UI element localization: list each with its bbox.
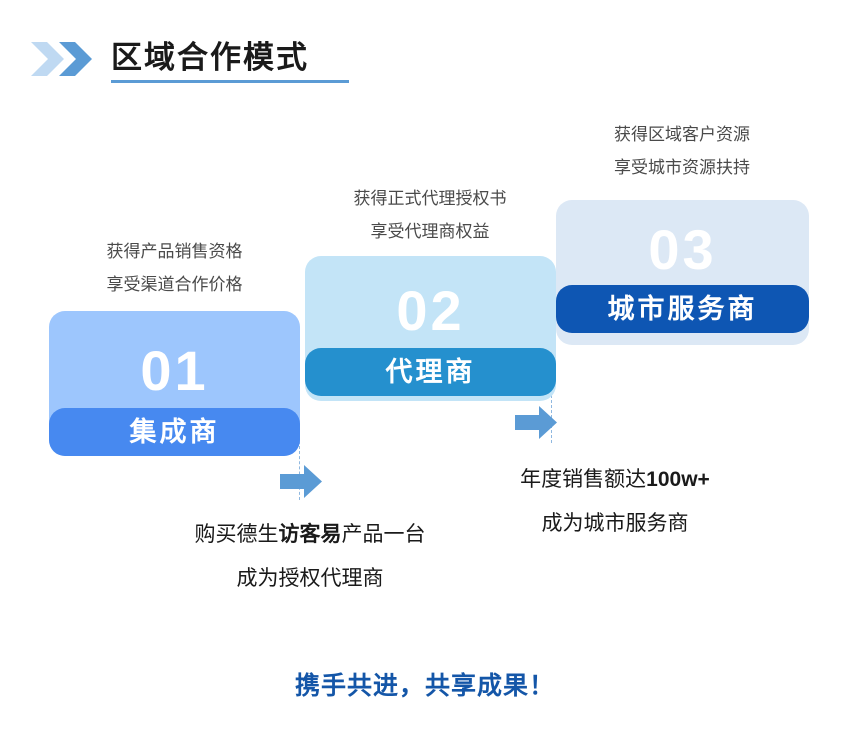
tier-number-03: 03 xyxy=(556,220,809,280)
step-description-01: 购买德生访客易产品一台 成为授权代理商 xyxy=(120,513,500,601)
right-arrow-icon-01 xyxy=(280,465,322,498)
step-02-highlight: 100w+ xyxy=(646,468,710,491)
tier-card-integrator[interactable]: 01 集成商 xyxy=(49,311,300,456)
tier-caption-02: 获得正式代理授权书 享受代理商权益 xyxy=(300,182,560,248)
step-description-02: 年度销售额达100w+ 成为城市服务商 xyxy=(455,458,775,546)
tier-name-02: 代理商 xyxy=(305,348,556,396)
tier-name-03: 城市服务商 xyxy=(556,285,809,333)
tier-name-01: 集成商 xyxy=(49,408,300,456)
tier-caption-02-line2: 享受代理商权益 xyxy=(300,215,560,248)
step-01-prefix: 购买德生 xyxy=(195,523,279,546)
tier-caption-01: 获得产品销售资格 享受渠道合作价格 xyxy=(49,235,300,301)
tier-caption-03-line2: 享受城市资源扶持 xyxy=(552,151,812,184)
step-01-suffix: 产品一台 xyxy=(342,523,426,546)
tier-number-01: 01 xyxy=(49,341,300,401)
tier-card-city-service-provider[interactable]: 03 城市服务商 xyxy=(556,200,809,345)
tier-caption-03: 获得区域客户资源 享受城市资源扶持 xyxy=(552,118,812,184)
step-description-01-line2: 成为授权代理商 xyxy=(120,557,500,601)
step-description-02-line1: 年度销售额达100w+ xyxy=(455,458,775,502)
tier-diagram: 获得产品销售资格 享受渠道合作价格 获得正式代理授权书 享受代理商权益 获得区域… xyxy=(0,0,850,737)
tier-caption-01-line2: 享受渠道合作价格 xyxy=(49,268,300,301)
step-description-01-line1: 购买德生访客易产品一台 xyxy=(120,513,500,557)
step-02-prefix: 年度销售额达 xyxy=(520,468,646,491)
closing-slogan: 携手共进，共享成果！ xyxy=(0,670,850,702)
tier-caption-03-line1: 获得区域客户资源 xyxy=(552,118,812,151)
tier-card-agent[interactable]: 02 代理商 xyxy=(305,256,556,401)
tier-caption-01-line1: 获得产品销售资格 xyxy=(49,235,300,268)
step-01-highlight: 访客易 xyxy=(279,523,342,546)
step-description-02-line2: 成为城市服务商 xyxy=(455,502,775,546)
tier-number-02: 02 xyxy=(305,281,556,341)
tier-caption-02-line1: 获得正式代理授权书 xyxy=(300,182,560,215)
right-arrow-icon-02 xyxy=(515,406,557,439)
